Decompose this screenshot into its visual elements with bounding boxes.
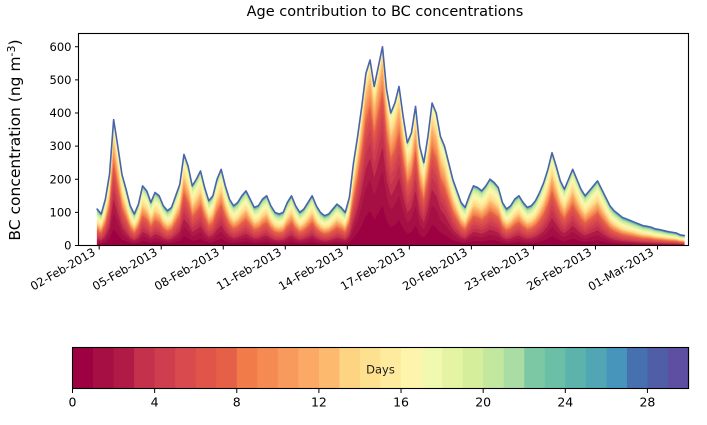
y-axis-title-text: BC concentration (ng m	[6, 56, 24, 240]
colorbar-segment-17	[422, 348, 443, 389]
y-axis-title-superscript: -3	[5, 45, 18, 56]
y-axis-title-paren: )	[6, 39, 24, 45]
colorbar-tick-label: 28	[639, 395, 655, 410]
colorbar-segment-20	[483, 348, 504, 389]
svg-text:BC concentration (ng m-3): BC concentration (ng m-3)	[5, 39, 24, 240]
y-tick-label: 500	[50, 73, 72, 87]
colorbar-tick-label: 4	[151, 395, 159, 410]
colorbar-segment-26	[606, 348, 627, 389]
colorbar-segment-19	[463, 348, 484, 389]
colorbar-segment-4	[155, 348, 176, 389]
colorbar-segment-21	[504, 348, 525, 389]
y-tick-label: 0	[64, 239, 71, 253]
colorbar-segment-0	[73, 348, 94, 389]
colorbar-tick-label: 24	[557, 395, 573, 410]
figure-canvas: Age contribution to BC concentrations BC…	[0, 0, 707, 425]
colorbar-segment-11	[298, 348, 319, 389]
y-tick-label: 300	[50, 139, 72, 153]
colorbar-segment-10	[278, 348, 299, 389]
colorbar-segment-16	[401, 348, 422, 389]
colorbar-segment-12	[319, 348, 340, 389]
colorbar-segment-29	[668, 348, 689, 389]
colorbar-tick-label: 8	[233, 395, 241, 410]
colorbar-segment-25	[586, 348, 607, 389]
colorbar-tick-label: 20	[475, 395, 491, 410]
colorbar-segment-23	[545, 348, 566, 389]
page-title: Age contribution to BC concentrations	[247, 4, 524, 20]
stacked-area-chart: Age contribution to BC concentrations BC…	[0, 0, 707, 425]
colorbar-segment-13	[339, 348, 360, 389]
colorbar-segment-2	[114, 348, 135, 389]
colorbar-tick-label: 12	[311, 395, 327, 410]
colorbar-segment-8	[237, 348, 258, 389]
y-tick-label: 200	[50, 172, 72, 186]
colorbar-segment-24	[565, 348, 586, 389]
colorbar-segment-27	[627, 348, 648, 389]
y-tick-label: 400	[50, 106, 72, 120]
colorbar-segment-7	[216, 348, 237, 389]
colorbar-tick-label: 0	[69, 395, 77, 410]
y-tick-label: 600	[50, 40, 72, 54]
colorbar-segment-6	[196, 348, 217, 389]
colorbar-segment-5	[175, 348, 196, 389]
colorbar-label: Days	[366, 363, 395, 377]
colorbar-tick-label: 16	[393, 395, 409, 410]
colorbar-segment-1	[93, 348, 114, 389]
colorbar-segment-9	[257, 348, 278, 389]
y-axis-title: BC concentration (ng m-3)	[5, 39, 24, 240]
colorbar-segment-18	[442, 348, 463, 389]
colorbar-segment-22	[524, 348, 545, 389]
colorbar-segment-28	[647, 348, 668, 389]
y-tick-label: 100	[50, 205, 72, 219]
colorbar-segment-3	[134, 348, 155, 389]
